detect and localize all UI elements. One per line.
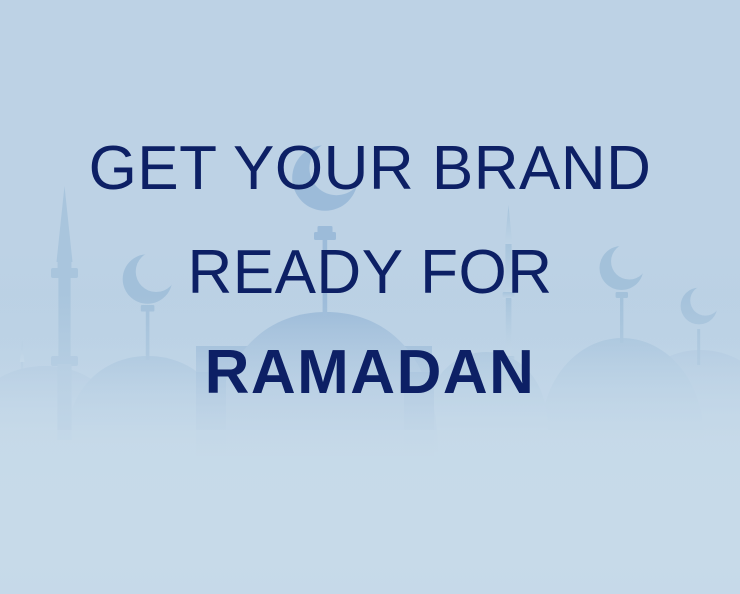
headline-block: GET YOUR BRAND READY FOR RAMADAN — [0, 138, 740, 404]
ground-wash — [0, 430, 740, 594]
headline-line-3: RAMADAN — [0, 342, 740, 404]
ramadan-banner: GET YOUR BRAND READY FOR RAMADAN — [0, 0, 740, 594]
headline-line-1: GET YOUR BRAND — [0, 138, 740, 200]
headline-line-2: READY FOR — [0, 242, 740, 304]
